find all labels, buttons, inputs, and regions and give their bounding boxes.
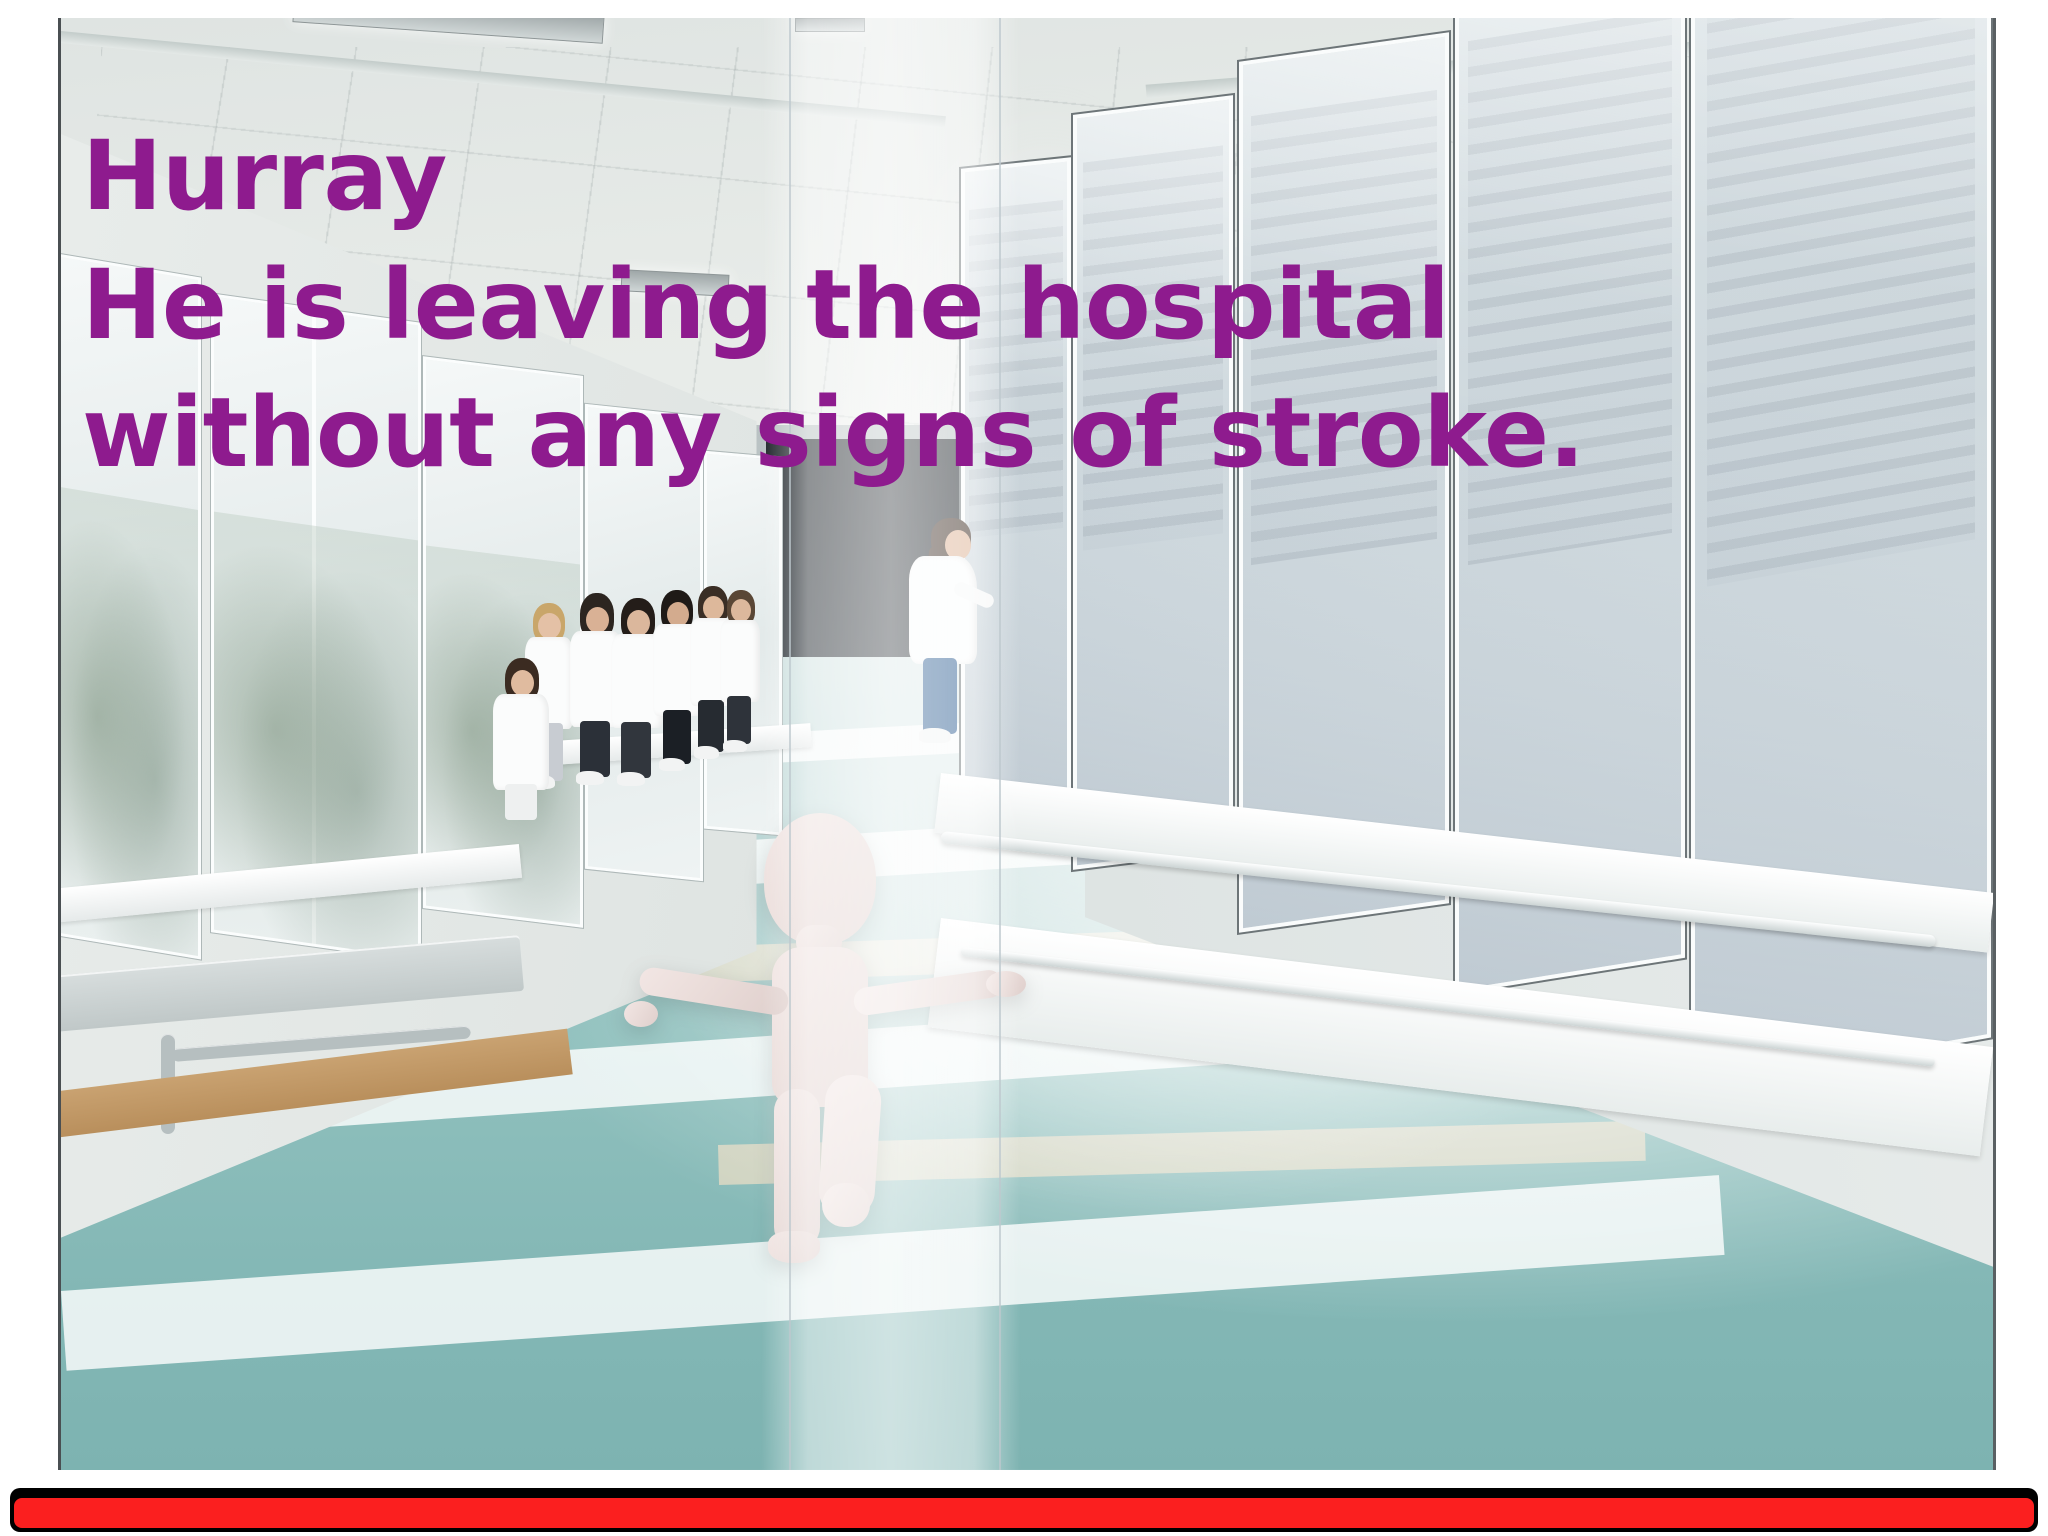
head: [627, 610, 650, 636]
white-coat: [720, 620, 760, 702]
legs: [580, 721, 610, 777]
white-coat: [493, 694, 549, 790]
headline-line-1: Hurray: [82, 112, 1872, 241]
mannequin-hand-left: [624, 1001, 658, 1027]
mannequin-hand-right: [986, 971, 1026, 997]
head: [511, 670, 534, 696]
staff-person-seated: [491, 658, 555, 828]
ceiling-light-fixture: [795, 18, 865, 32]
shoe: [694, 746, 719, 759]
shoe: [723, 740, 747, 752]
headline-line-3: without any signs of stroke.: [82, 369, 1872, 498]
shoe: [617, 772, 645, 786]
mannequin-arm-left: [638, 966, 791, 1017]
head: [586, 607, 609, 633]
mannequin-leg-standing: [774, 1089, 820, 1249]
mannequin-foot-raised: [822, 1183, 870, 1227]
white-coat: [909, 556, 977, 664]
mannequin-foot-standing: [768, 1231, 820, 1263]
jeans: [923, 658, 957, 734]
head: [538, 613, 561, 639]
presentation-slide: Hurray He is leaving the hospital withou…: [0, 0, 2048, 1536]
shoe: [919, 728, 951, 743]
headline: Hurray He is leaving the hospital withou…: [82, 112, 1872, 498]
legs: [505, 784, 537, 820]
ceiling-light-fixture: [292, 18, 604, 43]
mannequin-arm-right: [852, 968, 1004, 1017]
shoe: [576, 771, 604, 785]
mannequin-figure: [616, 813, 1036, 1263]
legs: [621, 722, 651, 778]
head: [731, 599, 751, 622]
headline-line-2: He is leaving the hospital: [82, 241, 1872, 370]
shoe: [659, 758, 685, 771]
staff-person: [719, 590, 763, 756]
nurse-at-railing: [907, 518, 993, 748]
bottom-accent-bar: [14, 1498, 2034, 1528]
legs: [663, 710, 691, 764]
legs: [727, 696, 751, 744]
